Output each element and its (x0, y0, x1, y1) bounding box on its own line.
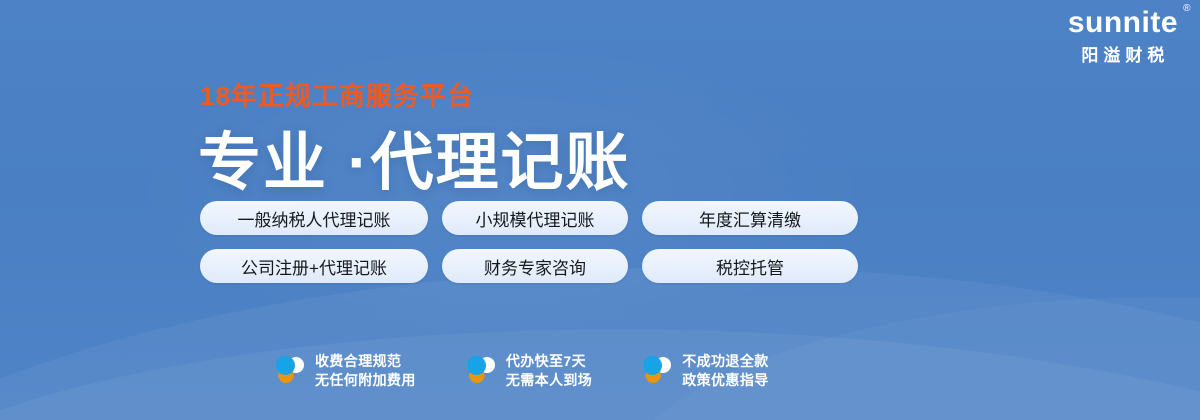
brand-wordmark-text: sunnite (1068, 6, 1178, 39)
service-tag-row: 一般纳税人代理记账 小规模代理记账 年度汇算清缴 (200, 201, 858, 235)
feature-line-1: 不成功退全款 (682, 352, 768, 371)
service-tag-finance-consulting[interactable]: 财务专家咨询 (442, 249, 628, 283)
service-tag-list: 一般纳税人代理记账 小规模代理记账 年度汇算清缴 公司注册+代理记账 财务专家咨… (200, 201, 858, 283)
feature-item-pricing: 收费合理规范 无任何附加费用 (276, 352, 416, 390)
brand-subtitle: 阳溢财税 (1068, 47, 1178, 64)
service-tag-company-registration[interactable]: 公司注册+代理记账 (200, 249, 428, 283)
eyebrow-text: 18年正规工商服务平台 (200, 76, 474, 113)
marketing-banner: sunnite ® 阳溢财税 18年正规工商服务平台 专业 ·代理记账 一般纳税… (0, 0, 1200, 420)
feature-text: 收费合理规范 无任何附加费用 (315, 352, 416, 390)
bullet-circle-icon (467, 356, 486, 375)
feature-line-2: 政策优惠指导 (682, 371, 768, 390)
brand-wordmark: sunnite ® (1068, 8, 1178, 38)
service-tag-annual-settlement[interactable]: 年度汇算清缴 (642, 201, 858, 235)
feature-line-1: 收费合理规范 (315, 352, 416, 371)
feature-text: 代办快至7天 无需本人到场 (506, 352, 592, 390)
feature-text: 不成功退全款 政策优惠指导 (682, 352, 768, 390)
bullet-circle-icon (276, 356, 295, 375)
service-tag-tax-control-hosting[interactable]: 税控托管 (642, 249, 858, 283)
registered-trademark-icon: ® (1183, 4, 1191, 14)
service-tag-row: 公司注册+代理记账 财务专家咨询 税控托管 (200, 249, 858, 283)
brand-logo[interactable]: sunnite ® 阳溢财税 (1068, 8, 1178, 64)
feature-line-2: 无需本人到场 (506, 371, 592, 390)
page-title: 专业 ·代理记账 (198, 112, 630, 203)
feature-line-2: 无任何附加费用 (315, 371, 416, 390)
feature-strip: 收费合理规范 无任何附加费用 代办快至7天 无需本人到场 不成功退全款 (276, 352, 769, 390)
feature-item-speed: 代办快至7天 无需本人到场 (467, 352, 592, 390)
service-tag-small-scale[interactable]: 小规模代理记账 (442, 201, 628, 235)
service-tag-general-taxpayer[interactable]: 一般纳税人代理记账 (200, 201, 428, 235)
bullet-dot-icon (276, 356, 304, 386)
bullet-dot-icon (643, 356, 671, 386)
feature-item-refund: 不成功退全款 政策优惠指导 (643, 352, 768, 390)
bullet-dot-icon (467, 356, 495, 386)
feature-line-1: 代办快至7天 (506, 352, 592, 371)
